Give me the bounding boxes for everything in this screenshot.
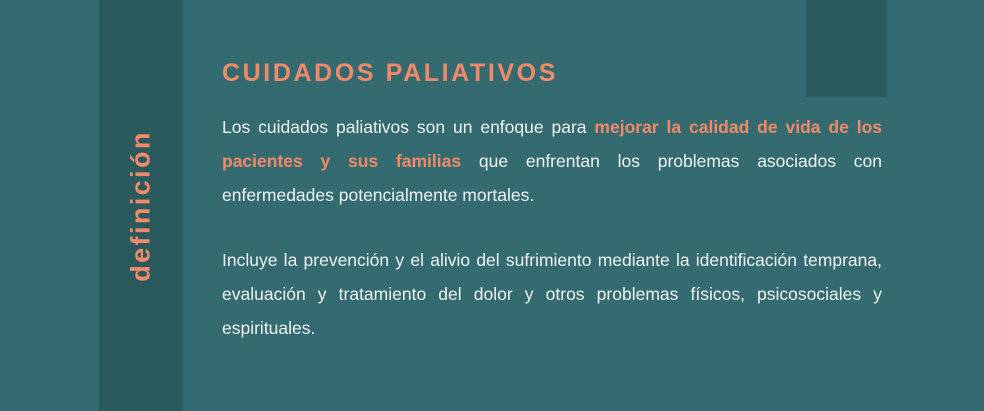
paragraph-1: Los cuidados paliativos son un enfoque p… (222, 110, 882, 212)
paragraph-2: Incluye la prevención y el alivio del su… (222, 243, 882, 345)
paragraph-1-lead: Los cuidados paliativos son un enfoque p… (222, 117, 594, 137)
content-column: CUIDADOS PALIATIVOS Los cuidados paliati… (222, 0, 882, 411)
paragraph-2-lead: Incluye la prevención y el alivio del su… (222, 250, 882, 338)
page-title: CUIDADOS PALIATIVOS (222, 60, 558, 88)
side-band: definición (99, 0, 183, 411)
definition-slide: definición CUIDADOS PALIATIVOS Los cuida… (0, 0, 984, 411)
vertical-section-label: definición (128, 130, 155, 282)
